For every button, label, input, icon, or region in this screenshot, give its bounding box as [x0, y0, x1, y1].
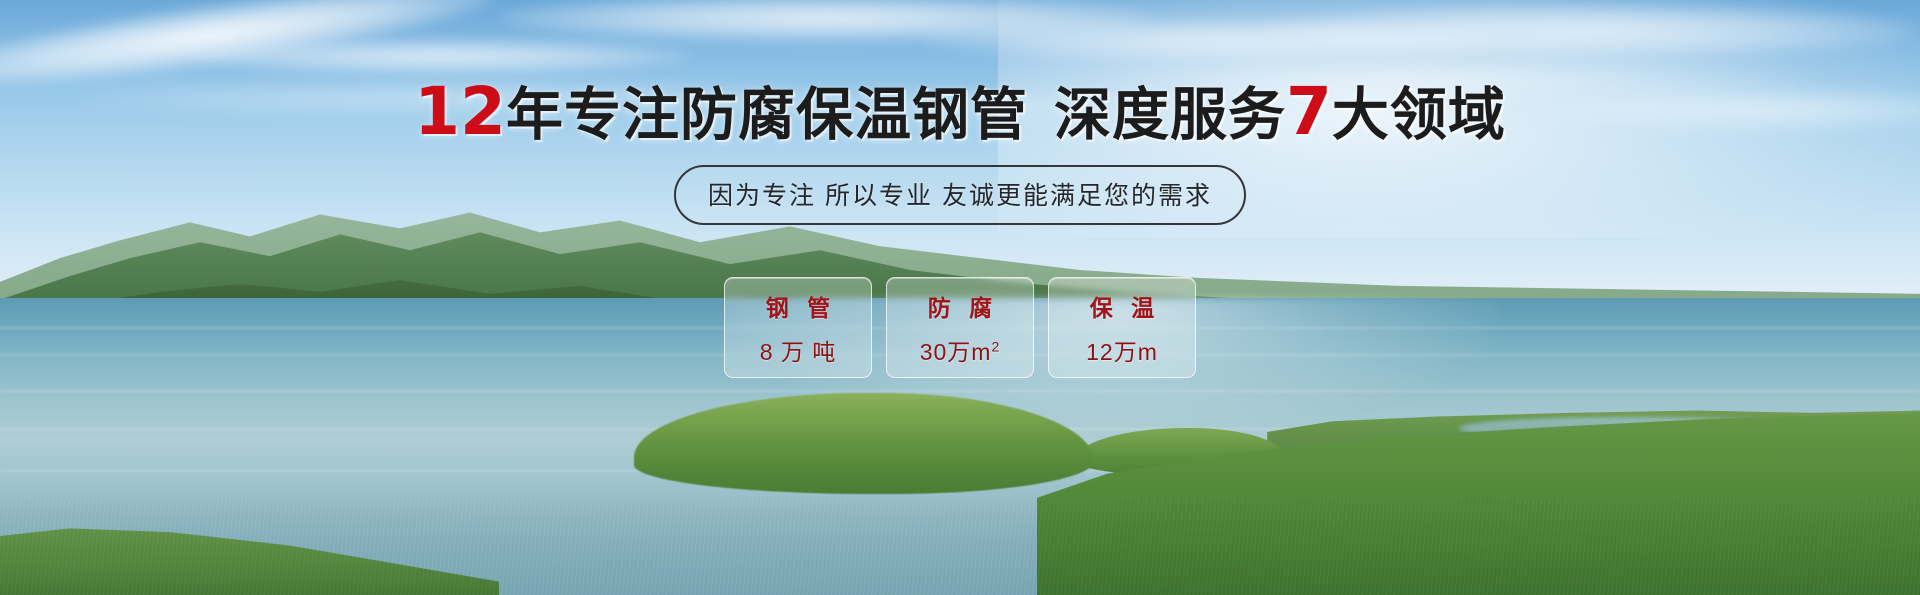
stat-card-insulation[interactable]: 保 温 12万m: [1048, 277, 1196, 378]
stat-value-text: 30万m: [920, 339, 992, 365]
stat-card-anticorrosion[interactable]: 防 腐 30万m2: [886, 277, 1034, 378]
stat-title: 防 腐: [922, 289, 998, 323]
headline-part-3: 大领域: [1332, 82, 1506, 148]
headline: 12年专注防腐保温钢管深度服务7大领域: [414, 78, 1506, 145]
headline-part-2: 深度服务: [1054, 82, 1286, 148]
stat-value-text: 12万m: [1086, 339, 1158, 365]
hero-banner: 12年专注防腐保温钢管深度服务7大领域 因为专注 所以专业 友诚更能满足您的需求…: [0, 0, 1920, 595]
subtitle-pill: 因为专注 所以专业 友诚更能满足您的需求: [674, 165, 1246, 225]
headline-years-number: 12: [414, 73, 506, 150]
stats-row: 钢 管 8 万 吨 防 腐 30万m2 保 温 12万m: [724, 277, 1196, 378]
stat-title: 钢 管: [760, 289, 836, 323]
headline-part-1: 年专注防腐保温钢管: [506, 82, 1028, 148]
stat-value-superscript: 2: [991, 338, 1000, 354]
banner-content: 12年专注防腐保温钢管深度服务7大领域 因为专注 所以专业 友诚更能满足您的需求…: [0, 0, 1920, 595]
stat-title: 保 温: [1084, 289, 1160, 323]
stat-value: 30万m2: [920, 333, 1001, 367]
stat-value: 8 万 吨: [760, 333, 837, 367]
headline-fields-number: 7: [1286, 73, 1332, 150]
stat-value: 12万m: [1086, 333, 1158, 367]
stat-value-text: 8 万 吨: [760, 339, 837, 365]
stat-card-steel-pipe[interactable]: 钢 管 8 万 吨: [724, 277, 872, 378]
